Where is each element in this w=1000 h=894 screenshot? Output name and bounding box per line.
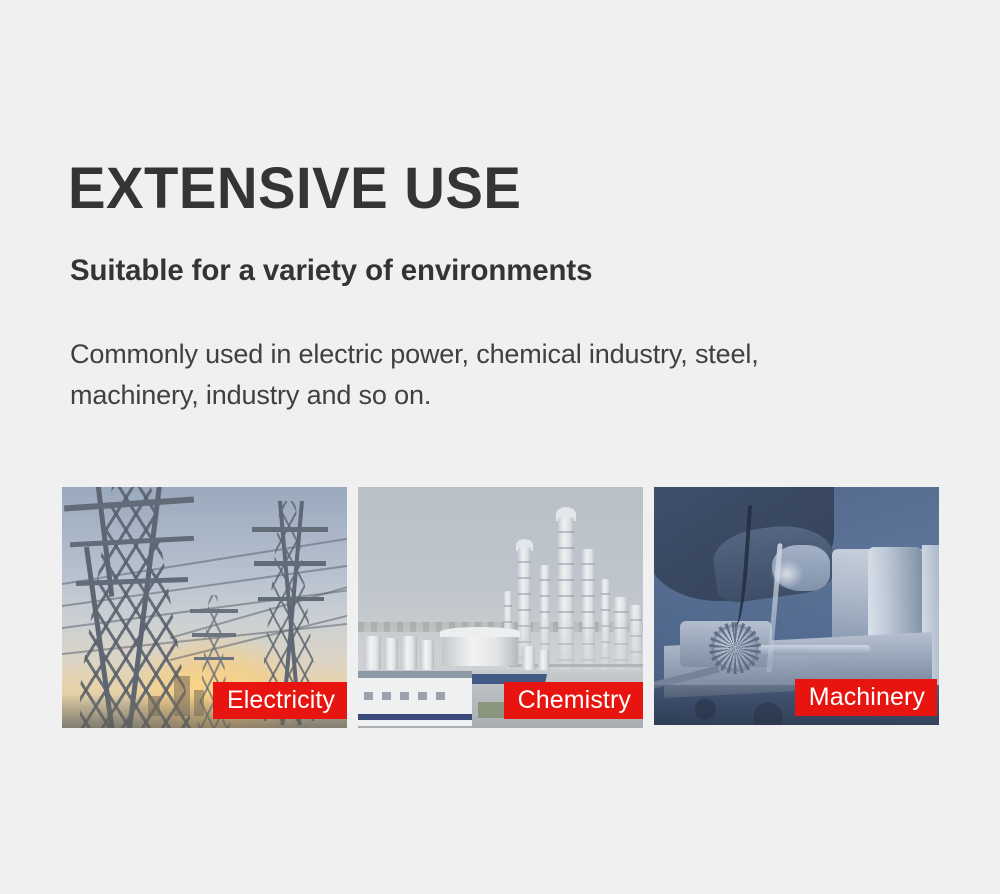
storage-tank (384, 638, 398, 670)
pylon-crossarm (252, 527, 328, 532)
application-card-electricity[interactable]: Electricity (62, 487, 347, 728)
building-window (418, 692, 427, 700)
storage-tank (401, 636, 417, 670)
pylon-crossarm (192, 633, 236, 637)
application-card-chemistry[interactable]: Chemistry (358, 487, 643, 728)
pylon-crossarm (194, 657, 234, 660)
storage-tank-large (442, 632, 518, 666)
card-badge-electricity: Electricity (213, 682, 347, 719)
pylon-crossarm (258, 597, 324, 601)
pylon-crossarm (190, 609, 238, 613)
card-badge-machinery: Machinery (795, 679, 937, 716)
application-cards: Electricity (62, 487, 942, 728)
building-window (436, 692, 445, 700)
building-window (364, 692, 373, 700)
section-description: Commonly used in electric power, chemica… (70, 334, 880, 416)
section-subtitle: Suitable for a variety of environments (70, 256, 592, 286)
storage-tank (420, 640, 434, 670)
storage-tank (538, 650, 549, 672)
extensive-use-section: EXTENSIVE USE Suitable for a variety of … (0, 0, 1000, 894)
building-window (382, 692, 391, 700)
building-stripe (358, 714, 472, 720)
building-window (400, 692, 409, 700)
storage-tank (364, 636, 381, 670)
page-title: EXTENSIVE USE (68, 160, 521, 218)
storage-tank (522, 646, 535, 672)
plant-building (358, 671, 472, 726)
application-card-machinery[interactable]: Machinery (654, 487, 939, 725)
pylon-crossarm (254, 561, 326, 566)
card-badge-chemistry: Chemistry (504, 682, 643, 719)
